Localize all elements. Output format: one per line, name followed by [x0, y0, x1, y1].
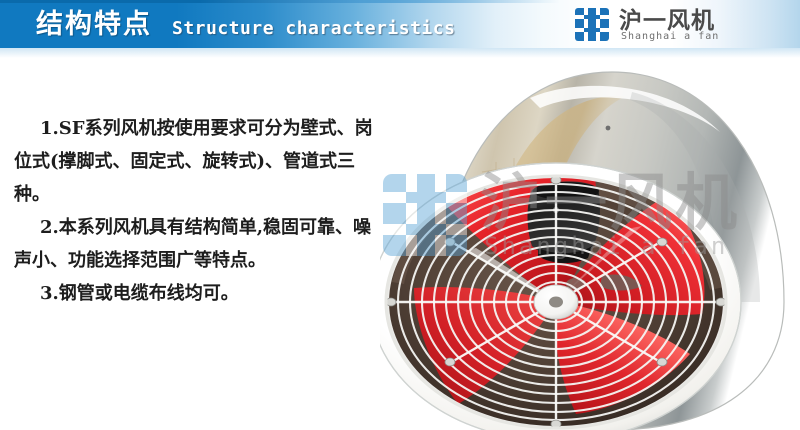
body-paragraph-3: 3.钢管或电缆布线均可。 — [14, 277, 374, 310]
header-top-edge — [0, 0, 800, 3]
brand-name-en: Shanghai a fan — [621, 31, 719, 43]
slide-page: 结构特点 Structure characteristics 沪一风机 Shan… — [0, 0, 800, 430]
h-grid-logo-icon — [575, 8, 609, 41]
page-title-cn: 结构特点 — [36, 7, 152, 41]
page-title-en: Structure characteristics — [172, 18, 455, 40]
body-paragraph-1: 1.SF系列风机按使用要求可分为壁式、岗位式(撑脚式、固定式、旋转式)、管道式三… — [14, 112, 374, 211]
axial-duct-fan-photo — [380, 52, 800, 430]
fan-center-hub — [534, 285, 578, 319]
brand-name-cn: 沪一风机 — [619, 7, 715, 33]
brand-logo[interactable]: 沪一风机 Shanghai a fan — [575, 7, 745, 43]
body-paragraph-2: 2.本系列风机具有结构简单,稳固可靠、噪声小、功能选择范围广等特点。 — [14, 211, 374, 277]
body-text-block: 1.SF系列风机按使用要求可分为壁式、岗位式(撑脚式、固定式、旋转式)、管道式三… — [14, 112, 374, 310]
